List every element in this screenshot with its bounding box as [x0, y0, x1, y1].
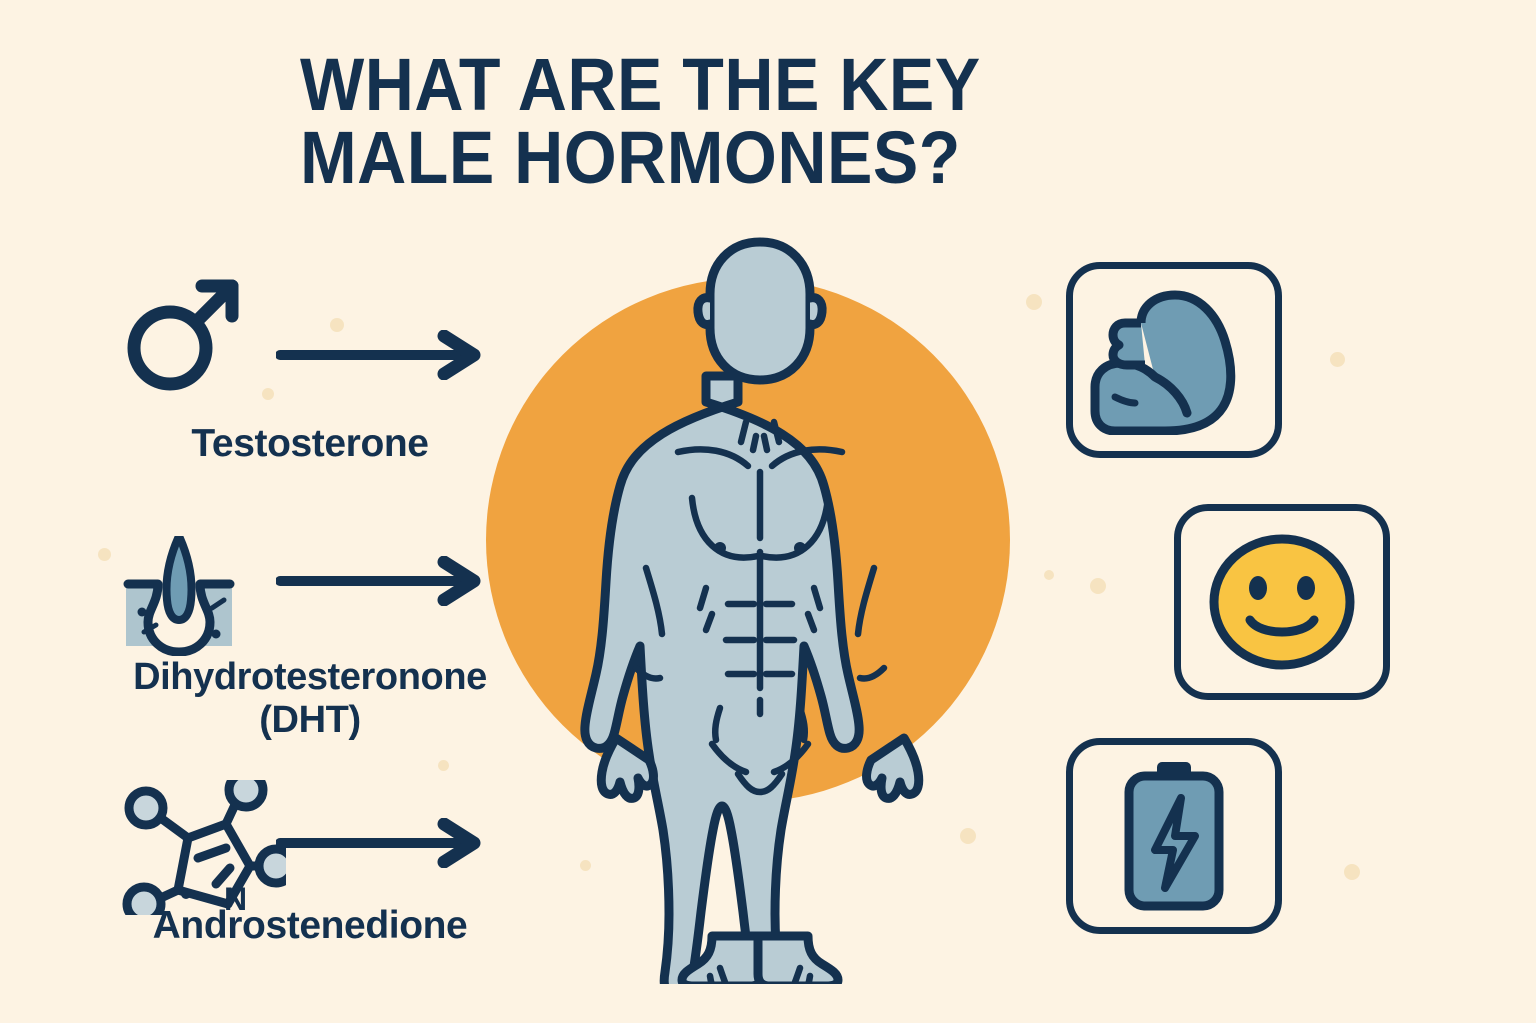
battery-bolt-icon — [1119, 760, 1229, 912]
hormone-name: Testosterone — [191, 422, 428, 465]
background-speck — [1044, 570, 1054, 580]
page-title: WHAT ARE THE KEY MALE HORMONES? — [300, 48, 1110, 195]
hormone-name: Androstenedione — [153, 904, 468, 947]
mars-symbol-icon — [122, 272, 246, 401]
infographic-canvas: WHAT ARE THE KEY MALE HORMONES? — [0, 0, 1536, 1023]
mood-card — [1174, 504, 1390, 700]
title-line-1: WHAT ARE THE KEY — [300, 48, 1110, 121]
hormone-label-testosterone: Testosterone — [60, 422, 560, 466]
molecule-icon: N — [116, 780, 286, 920]
hormone-abbreviation: (DHT) — [60, 699, 560, 742]
male-body-figure — [560, 236, 960, 984]
smiley-face-icon — [1206, 532, 1358, 672]
right-arrow-icon — [276, 818, 486, 868]
hormone-name: Dihydrotesteronone — [133, 656, 487, 698]
right-arrow-icon — [276, 330, 486, 380]
background-speck — [262, 388, 274, 400]
muscle-strength-card — [1066, 262, 1282, 458]
flexed-bicep-icon — [1089, 285, 1259, 435]
background-speck — [1330, 352, 1345, 367]
background-speck — [1090, 578, 1106, 594]
background-speck — [1344, 864, 1360, 880]
title-line-2: MALE HORMONES? — [300, 121, 1110, 194]
energy-card — [1066, 738, 1282, 934]
right-arrow-icon — [276, 556, 486, 606]
background-speck — [960, 828, 976, 844]
background-speck — [438, 760, 449, 771]
hormone-label-androstenedione: Androstenedione — [60, 904, 560, 948]
hair-follicle-icon — [114, 536, 244, 661]
background-speck — [1026, 294, 1042, 310]
hormone-label-dht: Dihydrotesteronone (DHT) — [60, 656, 560, 741]
background-speck — [98, 548, 111, 561]
